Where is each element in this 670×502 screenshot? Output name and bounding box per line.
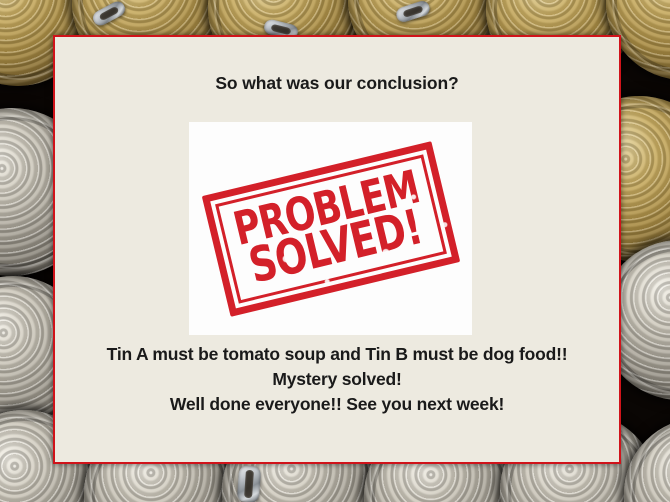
conclusion-line-1: Tin A must be tomato soup and Tin B must… <box>61 342 613 367</box>
can-pull-tab <box>237 465 261 502</box>
page-title: So what was our conclusion? <box>55 73 619 94</box>
conclusion-text-block: Tin A must be tomato soup and Tin B must… <box>61 342 613 417</box>
stamp-graphic: PROBLEM SOLVED! <box>201 141 459 317</box>
conclusion-line-3: Well done everyone!! See you next week! <box>61 392 613 417</box>
presentation-slide: So what was our conclusion? PROBLEM SOLV… <box>0 0 670 502</box>
conclusion-line-2: Mystery solved! <box>61 367 613 392</box>
problem-solved-stamp-image: PROBLEM SOLVED! <box>189 122 472 335</box>
slide-content-panel: So what was our conclusion? PROBLEM SOLV… <box>53 35 621 464</box>
stamp-inner-border: PROBLEM SOLVED! <box>215 154 447 303</box>
